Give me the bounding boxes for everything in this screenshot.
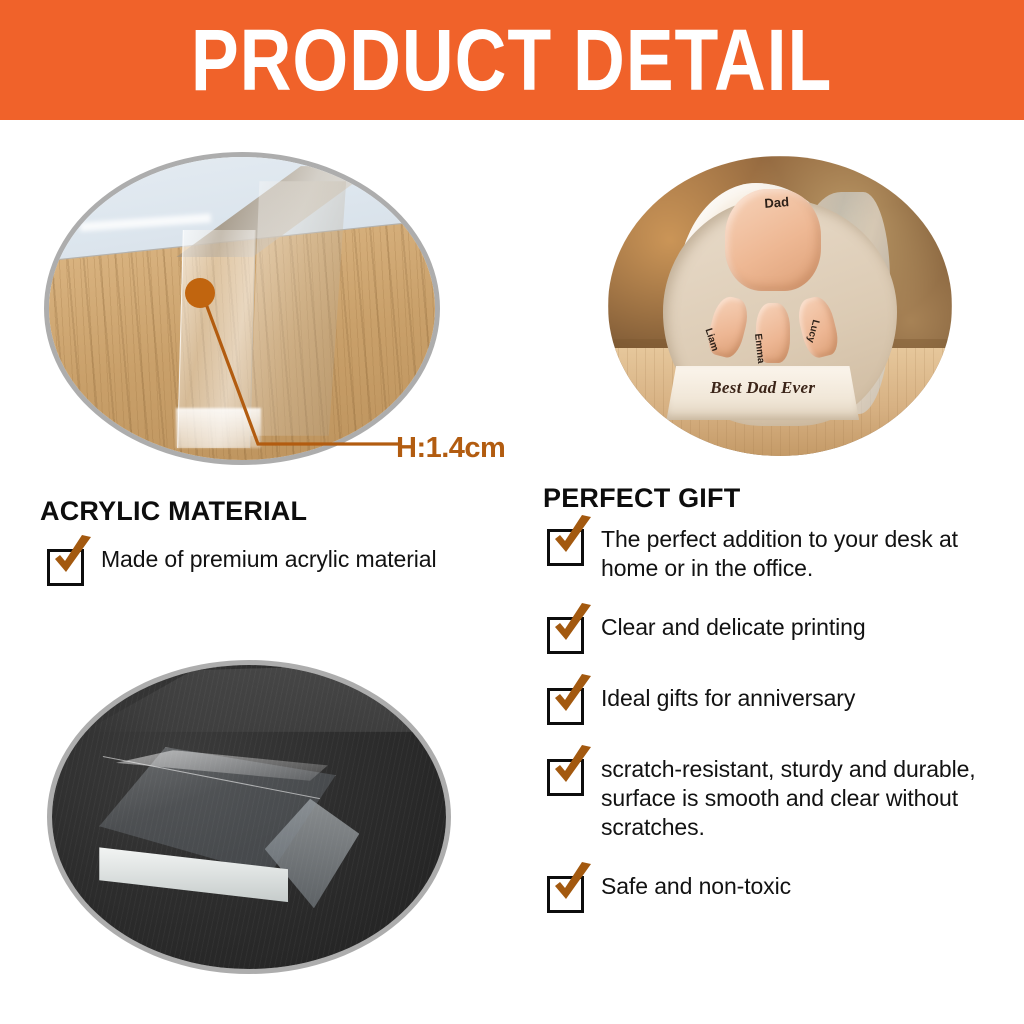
product-photo: Dad Liam Emma Lucy Best Dad Ever xyxy=(608,156,952,456)
list-item: The perfect addition to your desk at hom… xyxy=(547,525,1017,583)
acrylic-block-photo xyxy=(47,660,451,974)
checkbox-checked[interactable] xyxy=(547,876,584,913)
feature-list-perfect-gift: The perfect addition to your desk at hom… xyxy=(547,525,1017,943)
list-item-label: scratch-resistant, sturdy and durable, s… xyxy=(601,755,1017,842)
section-heading-perfect-gift: PERFECT GIFT xyxy=(543,483,740,514)
page-title: PRODUCT DETAIL xyxy=(191,16,832,103)
list-item: Clear and delicate printing xyxy=(547,613,1017,654)
list-item: Ideal gifts for anniversary xyxy=(547,684,1017,725)
check-icon xyxy=(548,603,596,651)
checkbox-checked[interactable] xyxy=(547,759,584,796)
product-detail-infographic: PRODUCT DETAIL H:1.4cm Dad Liam xyxy=(0,0,1024,1024)
check-icon xyxy=(548,515,596,563)
list-item: scratch-resistant, sturdy and durable, s… xyxy=(547,755,1017,842)
check-icon xyxy=(548,674,596,722)
list-item: Made of premium acrylic material xyxy=(47,545,517,586)
callout-dot xyxy=(185,278,215,308)
checkbox-checked[interactable] xyxy=(547,688,584,725)
list-item-label: The perfect addition to your desk at hom… xyxy=(601,525,1017,583)
check-icon xyxy=(548,862,596,910)
plaque-base-text: Best Dad Ever xyxy=(666,378,859,398)
checkbox-checked[interactable] xyxy=(547,529,584,566)
list-item-label: Safe and non-toxic xyxy=(601,872,791,901)
section-heading-acrylic-material: ACRYLIC MATERIAL xyxy=(40,496,307,527)
check-icon xyxy=(48,535,96,583)
checkbox-checked[interactable] xyxy=(547,617,584,654)
leader-line xyxy=(202,293,398,444)
list-item-label: Clear and delicate printing xyxy=(601,613,866,642)
checkbox-checked[interactable] xyxy=(47,549,84,586)
list-item-label: Ideal gifts for anniversary xyxy=(601,684,855,713)
list-item: Safe and non-toxic xyxy=(547,872,1017,913)
height-label: H:1.4cm xyxy=(396,432,505,465)
feature-list-acrylic-material: Made of premium acrylic material xyxy=(47,545,517,586)
header-banner: PRODUCT DETAIL xyxy=(0,0,1024,120)
list-item-label: Made of premium acrylic material xyxy=(101,545,437,574)
check-icon xyxy=(548,745,596,793)
